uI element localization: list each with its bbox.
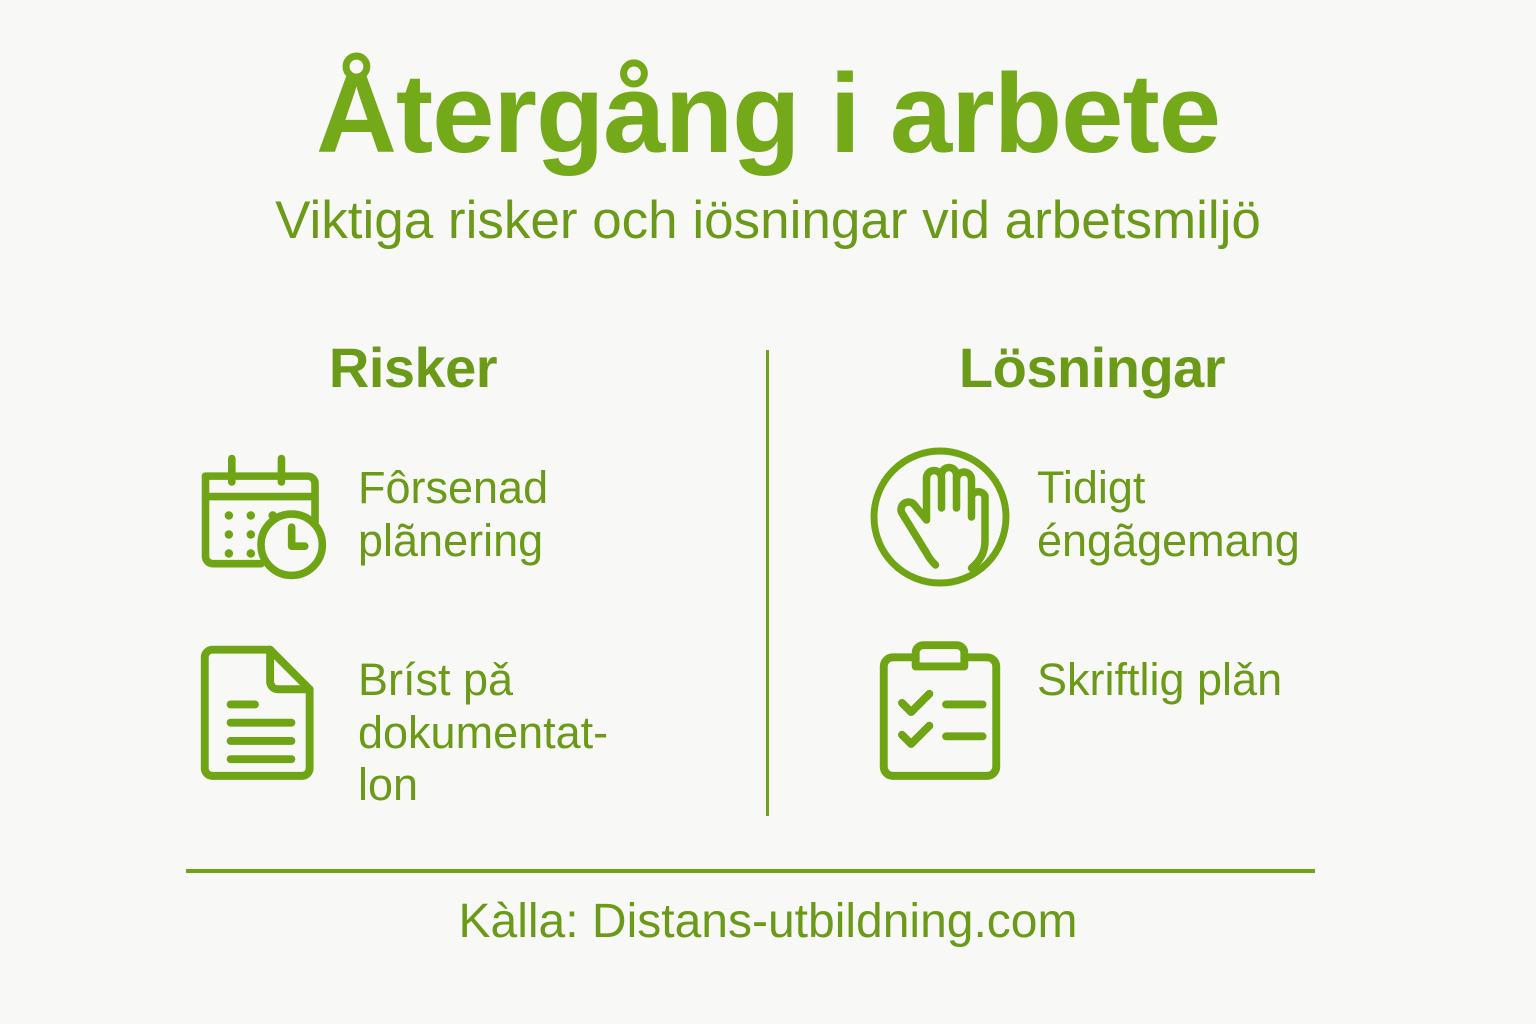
column-heading-solutions: Lösningar xyxy=(865,340,1349,396)
page-subtitle: Viktiga risker och iösningar vid arbetsm… xyxy=(0,194,1536,247)
list-item-label: Tidigt éngãgemang xyxy=(1015,442,1349,567)
clipboard-checklist-icon xyxy=(865,634,1015,784)
column-divider xyxy=(766,350,769,816)
list-item-label: Bríst pǎ dokumentat-lon xyxy=(336,634,668,812)
page-title: Återgång i arbete xyxy=(0,58,1536,170)
document-lines-icon xyxy=(186,634,336,784)
column-risks: Risker xyxy=(186,340,748,830)
raised-hand-circle-icon xyxy=(865,442,1015,592)
infographic-poster: Återgång i arbete Viktiga risker och iös… xyxy=(0,0,1536,1024)
poster-header: Återgång i arbete Viktiga risker och iös… xyxy=(0,58,1536,247)
calendar-clock-icon xyxy=(186,442,336,592)
list-item: Bríst pǎ dokumentat-lon xyxy=(186,634,730,812)
column-solutions: Lösningar Tidigt éngãgemang xyxy=(787,340,1349,830)
comparison-columns: Risker xyxy=(186,340,1350,830)
list-item: Skriftlig plǎn xyxy=(865,634,1349,784)
list-item-label: Fôrsenad plãnering xyxy=(336,442,668,567)
list-item: Fôrsenad plãnering xyxy=(186,442,730,592)
list-item: Tidigt éngãgemang xyxy=(865,442,1349,592)
list-item-label: Skriftlig plǎn xyxy=(1015,634,1282,707)
column-heading-risks: Risker xyxy=(186,340,730,396)
footer-divider-rule xyxy=(186,869,1315,873)
source-attribution: Kàlla: Distans-utbildning.com xyxy=(0,898,1536,946)
